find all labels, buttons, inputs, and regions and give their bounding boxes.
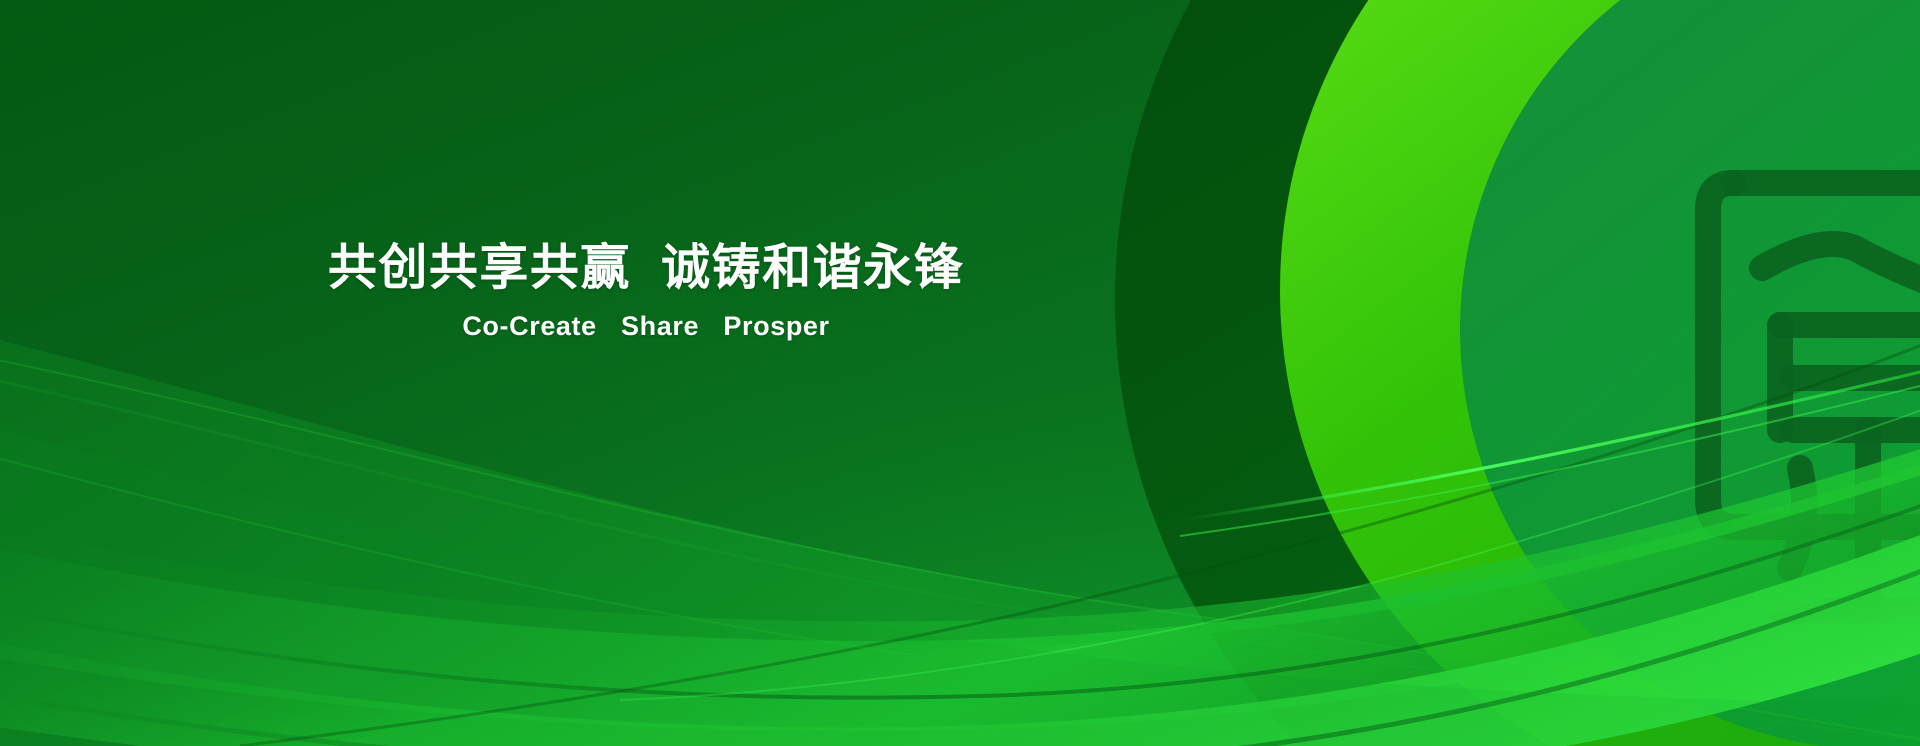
wave-ribbons-layer: [0, 0, 1920, 746]
slogan-subtitle: Co-Create Share Prosper: [0, 311, 1292, 342]
slogan-title: 共创共享共赢 诚铸和谐永锋: [0, 243, 1292, 294]
green-corporate-banner: 共创共享共赢 诚铸和谐永锋 Co-Create Share Prosper: [0, 0, 1920, 746]
slogan-block: 共创共享共赢 诚铸和谐永锋 Co-Create Share Prosper: [0, 243, 1292, 342]
